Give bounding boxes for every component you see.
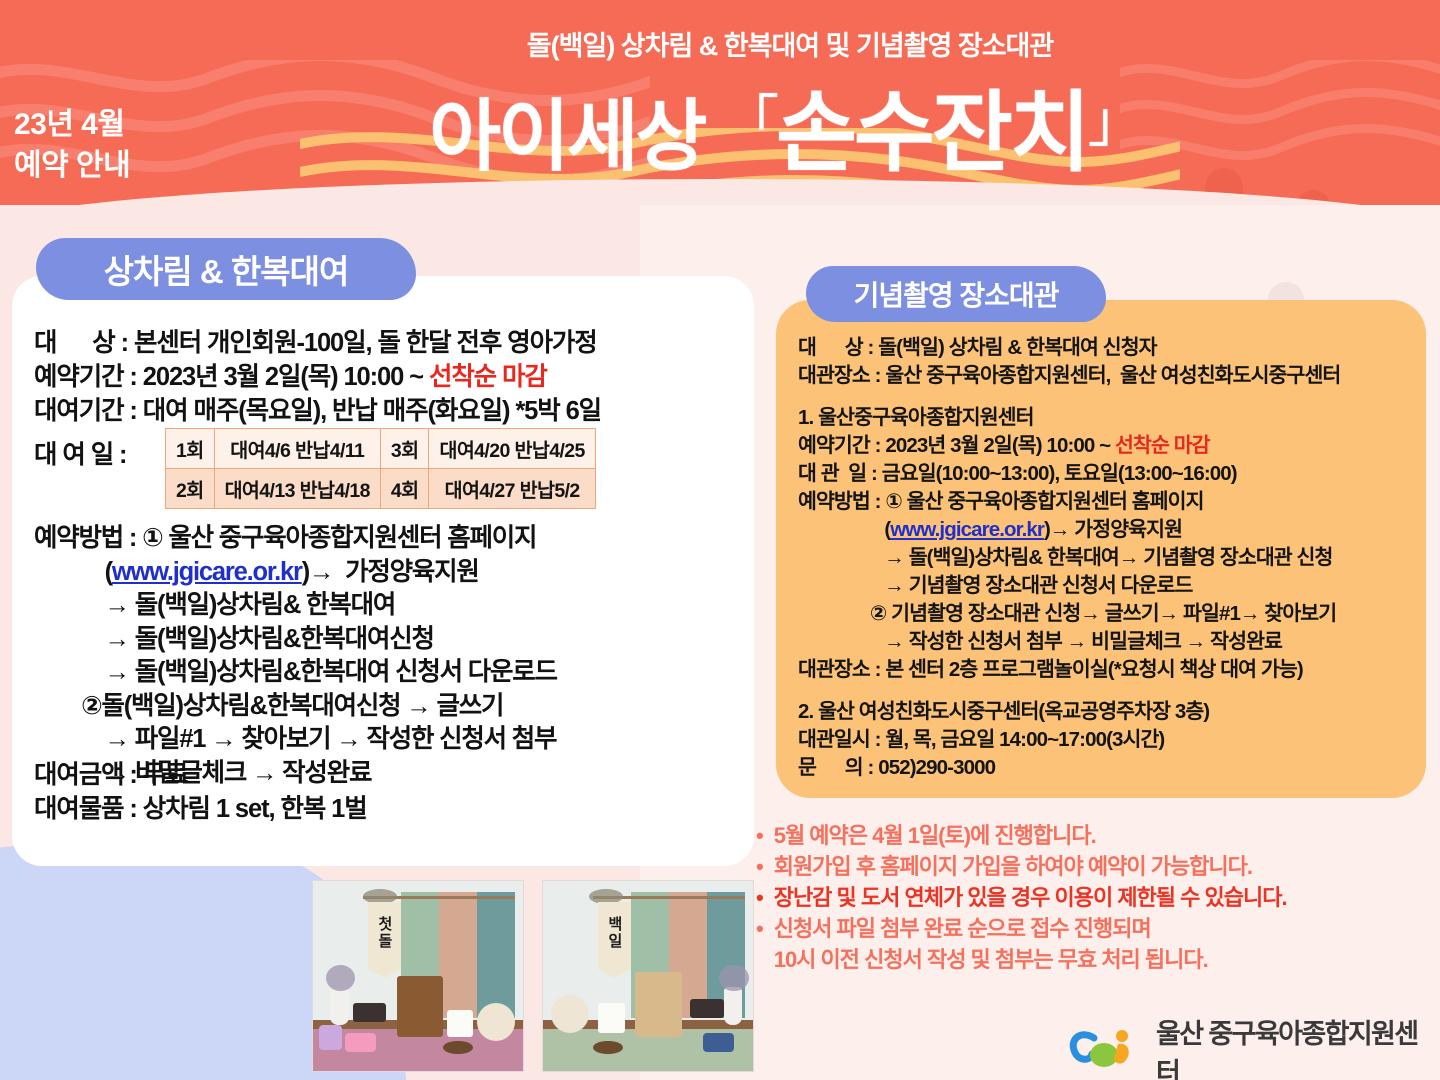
footer-logo: 울산 중구육아종합지원센터 bbox=[1068, 1012, 1440, 1080]
right-method-line-1: → 돌(백일)상차림& 한복대여→ 기념촬영 장소대관 신청 bbox=[798, 544, 1434, 572]
left-fee-line: 대여금액 : 무료 bbox=[34, 758, 750, 792]
left-card-info: 대 상 : 본센터 개인회원-100일, 돌 한달 전후 영아가정 예약기간 :… bbox=[34, 326, 750, 428]
left-url-prefix: ( bbox=[34, 558, 112, 586]
right-url-line: (www.jgicare.or.kr)→ 가정양육지원 bbox=[798, 516, 1434, 544]
tray-dessert bbox=[593, 1041, 622, 1054]
decor-ball bbox=[551, 995, 589, 1033]
list-item: • 신청서 파일 첨부 완료 순으로 접수 진행되며 10시 이전 신청서 작성… bbox=[756, 913, 1440, 975]
header-title: 아이세상 「손수잔치」 bbox=[0, 62, 1440, 189]
photo-first-birthday: 첫돌 bbox=[312, 880, 524, 1072]
left-method-url-line: (www.jgicare.or.kr)→ 가정양육지원 bbox=[34, 556, 750, 590]
notice-text-1: 5월 예약은 4월 1일(토)에 진행합니다. bbox=[774, 820, 1096, 851]
homepage-link[interactable]: www.jgicare.or.kr bbox=[112, 558, 302, 586]
cake-white bbox=[598, 1003, 625, 1033]
center-name: 울산 중구육아종합지원센터 bbox=[1156, 1012, 1440, 1080]
right-period-text: 예약기간 : 2023년 3월 2일(목) 10:00 ~ bbox=[798, 434, 1115, 457]
bullet-icon: • bbox=[756, 820, 763, 851]
photo-100-days: 백일 bbox=[542, 880, 754, 1072]
homepage-link[interactable]: www.jgicare.or.kr bbox=[890, 518, 1044, 541]
bullet-icon: • bbox=[756, 882, 763, 913]
notice-text-3: 장난감 및 도서 연체가 있을 경우 이용이 제한될 수 있습니다. bbox=[774, 882, 1287, 913]
center-logo-icon bbox=[1068, 1028, 1142, 1074]
gift-pink bbox=[345, 1033, 377, 1052]
row1-dates-1: 대여4/6 반납4/11 bbox=[214, 429, 380, 469]
rental-schedule-table: 1회 대여4/6 반납4/11 3회 대여4/20 반납4/25 2회 대여4/… bbox=[165, 428, 596, 509]
left-method-line-3: → 돌(백일)상차림& 한복대여 bbox=[34, 589, 750, 623]
table-row: 1회 대여4/6 반납4/11 3회 대여4/20 반납4/25 bbox=[166, 429, 596, 469]
cloth-pink bbox=[439, 892, 477, 1017]
left-line-rental-period: 대여기간 : 대여 매주(목요일), 반납 매주(화요일) *5박 6일 bbox=[34, 394, 750, 428]
wooden-chair bbox=[635, 972, 681, 1037]
gift-blue bbox=[703, 1033, 735, 1052]
banner-caption: 백일 bbox=[604, 916, 625, 950]
left-card-method: 예약방법 : ① 울산 중구육아종합지원센터 홈페이지 (www.jgicare… bbox=[34, 522, 750, 790]
row2-dates-2: 대여4/27 반납5/2 bbox=[429, 469, 595, 509]
banner-caption: 첫돌 bbox=[374, 916, 395, 950]
left-method-line-7: → 파일#1 → 찾아보기 → 작성한 신청서 첨부 bbox=[34, 723, 750, 757]
left-card-tail: 대여금액 : 무료 대여물품 : 상차림 1 set, 한복 1벌 bbox=[34, 758, 750, 826]
side-table bbox=[690, 999, 724, 1018]
dried-flowers-right bbox=[719, 965, 748, 992]
row1-count: 1회 bbox=[166, 429, 215, 469]
vase-right bbox=[724, 987, 743, 1025]
left-method-line-1: 예약방법 : ① 울산 중구육아종합지원센터 홈페이지 bbox=[34, 522, 750, 556]
right-section1-title: 1. 울산중구육아종합지원센터 bbox=[798, 404, 1434, 432]
right-line-days: 대 관 일 : 금요일(10:00~13:00), 토요일(13:00~16:0… bbox=[798, 460, 1434, 488]
poster-header: 돌(백일) 상차림 & 한복대여 및 기념촬영 장소대관 아이세상 「손수잔치」… bbox=[0, 0, 1440, 205]
right-line-period: 예약기간 : 2023년 3월 2일(목) 10:00 ~ 선착순 마감 bbox=[798, 432, 1434, 460]
bullet-icon: • bbox=[756, 851, 763, 882]
row2-count-2: 4회 bbox=[380, 469, 429, 509]
list-item: • 회원가입 후 홈페이지 가입을 하여야 예약이 가능합니다. bbox=[756, 851, 1440, 882]
left-line-target: 대 상 : 본센터 개인회원-100일, 돌 한달 전후 영아가정 bbox=[34, 326, 750, 360]
row1-count-2: 3회 bbox=[380, 429, 429, 469]
banner-100-days: 백일 bbox=[598, 902, 632, 978]
right-line-place: 대관장소 : 울산 중구육아종합지원센터, 울산 여성친화도시중구센터 bbox=[798, 362, 1434, 390]
list-item: • 장난감 및 도서 연체가 있을 경우 이용이 제한될 수 있습니다. bbox=[756, 882, 1440, 913]
wooden-chair bbox=[397, 976, 443, 1037]
notice-list: • 5월 예약은 4월 1일(토)에 진행합니다. • 회원가입 후 홈페이지 … bbox=[756, 820, 1440, 975]
spacer-2 bbox=[798, 684, 1434, 698]
poster-canvas: 돌(백일) 상차림 & 한복대여 및 기념촬영 장소대관 아이세상 「손수잔치」… bbox=[0, 0, 1440, 1080]
header-title-left: 아이세상 bbox=[429, 92, 704, 180]
right-method-line-3: ② 기념촬영 장소대관 신청→ 글쓰기→ 파일#1→ 찾아보기 bbox=[798, 600, 1434, 628]
list-item: • 5월 예약은 4월 1일(토)에 진행합니다. bbox=[756, 820, 1440, 851]
header-title-main: 손수잔치 bbox=[776, 83, 1088, 182]
left-url-suffix: )→ 가정양육지원 bbox=[302, 558, 479, 586]
notice-text-4: 신청서 파일 첨부 완료 순으로 접수 진행되며 10시 이전 신청서 작성 및… bbox=[774, 913, 1208, 975]
left-items-line: 대여물품 : 상차림 1 set, 한복 1벌 bbox=[34, 792, 750, 826]
side-table bbox=[353, 1003, 387, 1022]
decorative-pill-2 bbox=[1295, 190, 1331, 205]
left-method-line-4: → 돌(백일)상차림&한복대여신청 bbox=[34, 623, 750, 657]
cloth-teal bbox=[477, 892, 515, 1017]
right-card-tag: 기념촬영 장소대관 bbox=[806, 266, 1106, 322]
cake-white bbox=[447, 1010, 472, 1037]
right-line-contact: 문 의 : 052)290-3000 bbox=[798, 754, 1434, 782]
issue-date-badge: 23년 4월 예약 안내 bbox=[14, 105, 130, 186]
dried-flowers-left bbox=[326, 965, 355, 992]
right-url-suffix: )→ 가정양육지원 bbox=[1044, 518, 1182, 541]
decorative-pill-4 bbox=[1175, 196, 1211, 205]
left-period-deadline: 선착순 마감 bbox=[429, 363, 547, 391]
row2-dates-1: 대여4/13 반납4/18 bbox=[214, 469, 380, 509]
decor-ball bbox=[477, 1003, 515, 1041]
left-method-line-6: ②돌(백일)상차림&한복대여신청 → 글쓰기 bbox=[34, 690, 750, 724]
bracket-close: 」 bbox=[1088, 90, 1141, 153]
bracket-open: 「 bbox=[723, 90, 776, 153]
table-row: 2회 대여4/13 반납4/18 4회 대여4/27 반납5/2 bbox=[166, 469, 596, 509]
vase-left bbox=[330, 987, 349, 1025]
right-card-info: 대 상 : 돌(백일) 상차림 & 한복대여 신청자 대관장소 : 울산 중구육… bbox=[798, 334, 1434, 782]
left-card-tag: 상차림 & 한복대여 bbox=[36, 238, 416, 300]
right-line-method: 예약방법 : ① 울산 중구육아종합지원센터 홈페이지 bbox=[798, 488, 1434, 516]
right-period-deadline: 선착순 마감 bbox=[1115, 434, 1210, 457]
rental-schedule-label: 대 여 일 : bbox=[34, 434, 126, 471]
row1-dates-2: 대여4/20 반납4/25 bbox=[429, 429, 595, 469]
right-section2-title: 2. 울산 여성친화도시중구센터(옥교공영주차장 3층) bbox=[798, 698, 1434, 726]
right-method-line-4: → 작성한 신청서 첨부 → 비밀글체크 → 작성완료 bbox=[798, 628, 1434, 656]
right-line-datetime2: 대관일시 : 월, 목, 금요일 14:00~17:00(3시간) bbox=[798, 726, 1434, 754]
left-period-text: 예약기간 : 2023년 3월 2일(목) 10:00 ~ bbox=[34, 363, 429, 391]
right-line-target: 대 상 : 돌(백일) 상차림 & 한복대여 신청자 bbox=[798, 334, 1434, 362]
gift-purple bbox=[319, 1025, 342, 1050]
sample-photos: 첫돌 백일 bbox=[312, 880, 754, 1072]
right-line-place2: 대관장소 : 본 센터 2층 프로그램놀이실(*요청시 책상 대여 가능) bbox=[798, 656, 1434, 684]
bullet-icon: • bbox=[756, 913, 763, 975]
row2-count: 2회 bbox=[166, 469, 215, 509]
header-subtitle: 돌(백일) 상차림 & 한복대여 및 기념촬영 장소대관 bbox=[0, 24, 1440, 63]
notice-text-2: 회원가입 후 홈페이지 가입을 하여야 예약이 가능합니다. bbox=[774, 851, 1252, 882]
dried-flower-top bbox=[363, 889, 397, 904]
left-line-period: 예약기간 : 2023년 3월 2일(목) 10:00 ~ 선착순 마감 bbox=[34, 360, 750, 394]
right-method-line-2: → 기념촬영 장소대관 신청서 다운로드 bbox=[798, 572, 1434, 600]
spacer-1 bbox=[798, 390, 1434, 404]
left-method-line-5: → 돌(백일)상차림&한복대여 신청서 다운로드 bbox=[34, 656, 750, 690]
banner-first-birthday: 첫돌 bbox=[368, 902, 402, 978]
dried-flower-top bbox=[589, 889, 623, 904]
tray-dessert bbox=[443, 1041, 472, 1054]
